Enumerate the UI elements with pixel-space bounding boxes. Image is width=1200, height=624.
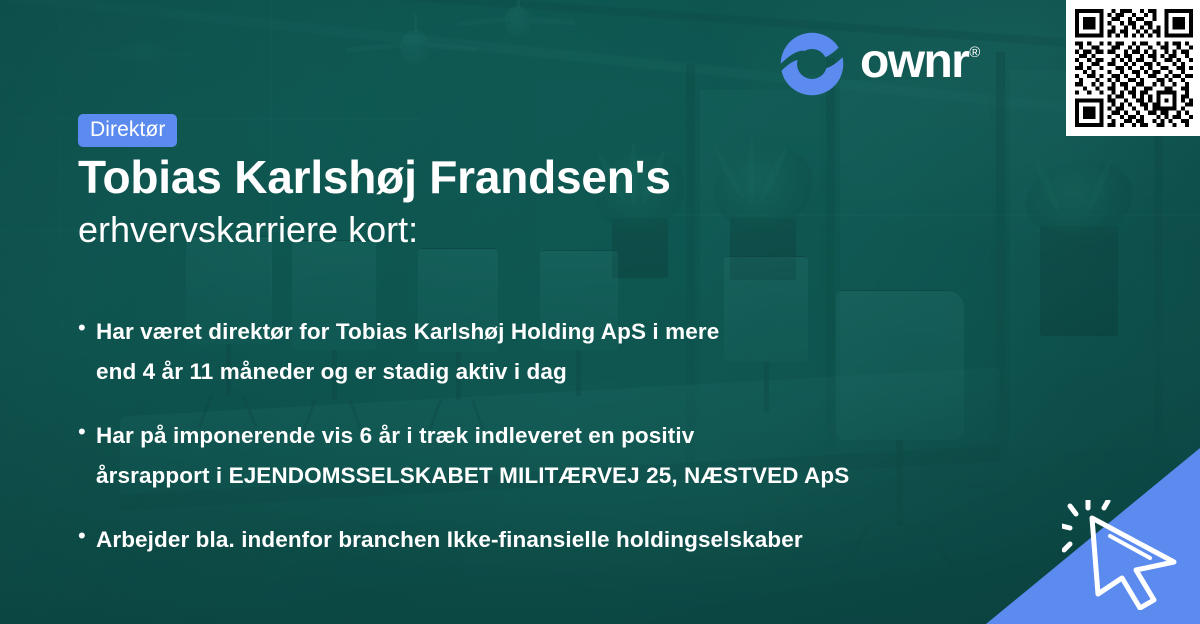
list-item-line: årsrapport i EJENDOMSSELSKABET MILITÆRVE… [96,456,849,496]
qr-code-panel[interactable] [1066,0,1200,136]
list-item: • Arbejder bla. indenfor branchen Ikke-f… [78,520,978,560]
registered-trademark-icon: ® [969,44,978,61]
card-content: Direktør Tobias Karlshøj Frandsen's erhv… [0,0,1200,624]
role-badge: Direktør [78,114,177,147]
qr-code[interactable] [1075,9,1193,127]
career-highlights-list: • Har været direktør for Tobias Karlshøj… [78,312,978,584]
list-item-body: Arbejder bla. indenfor branchen Ikke-fin… [96,520,803,560]
list-item: • Har på imponerende vis 6 år i træk ind… [78,416,978,496]
title-secondary: erhvervskarriere kort: [78,208,798,251]
list-item-line: Har været direktør for Tobias Karlshøj H… [96,312,719,352]
list-item: • Har været direktør for Tobias Karlshøj… [78,312,978,392]
ownr-logo[interactable]: ownr® [778,30,978,98]
list-item-body: Har været direktør for Tobias Karlshøj H… [96,312,719,392]
bullet-marker-icon: • [78,520,96,552]
list-item-line: Har på imponerende vis 6 år i træk indle… [96,416,849,456]
business-career-card: Direktør Tobias Karlshøj Frandsen's erhv… [0,0,1200,624]
ownr-circle-swoosh-icon [778,30,846,98]
bullet-marker-icon: • [78,312,96,344]
ownr-wordmark: ownr® [860,38,978,86]
title-primary: Tobias Karlshøj Frandsen's [78,152,798,204]
list-item-line: end 4 år 11 måneder og er stadig aktiv i… [96,352,719,392]
list-item-line: Arbejder bla. indenfor branchen Ikke-fin… [96,520,803,560]
page-title: Tobias Karlshøj Frandsen's erhvervskarri… [78,152,798,251]
ownr-wordmark-text: ownr [860,35,968,88]
list-item-body: Har på imponerende vis 6 år i træk indle… [96,416,849,496]
click-cursor-icon [1062,500,1188,610]
bullet-marker-icon: • [78,416,96,448]
